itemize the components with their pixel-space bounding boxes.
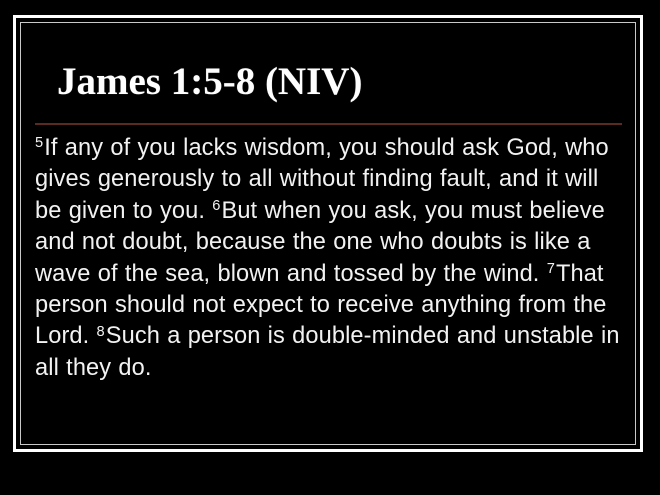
scripture-body-text: 5If any of you lacks wisdom, you should … (35, 133, 627, 384)
slide-title: James 1:5-8 (NIV) (57, 59, 362, 105)
presentation-slide: James 1:5-8 (NIV) 5If any of you lacks w… (0, 0, 660, 495)
verse-number-6: 6 (212, 198, 221, 214)
verse-number-7: 7 (547, 261, 556, 277)
title-divider-rule (35, 123, 622, 125)
verse-number-8: 8 (97, 324, 106, 340)
slide-content-area: James 1:5-8 (NIV) 5If any of you lacks w… (26, 28, 630, 439)
verse-text-8: Such a person is double-minded and unsta… (35, 323, 620, 380)
verse-number-5: 5 (35, 135, 44, 151)
